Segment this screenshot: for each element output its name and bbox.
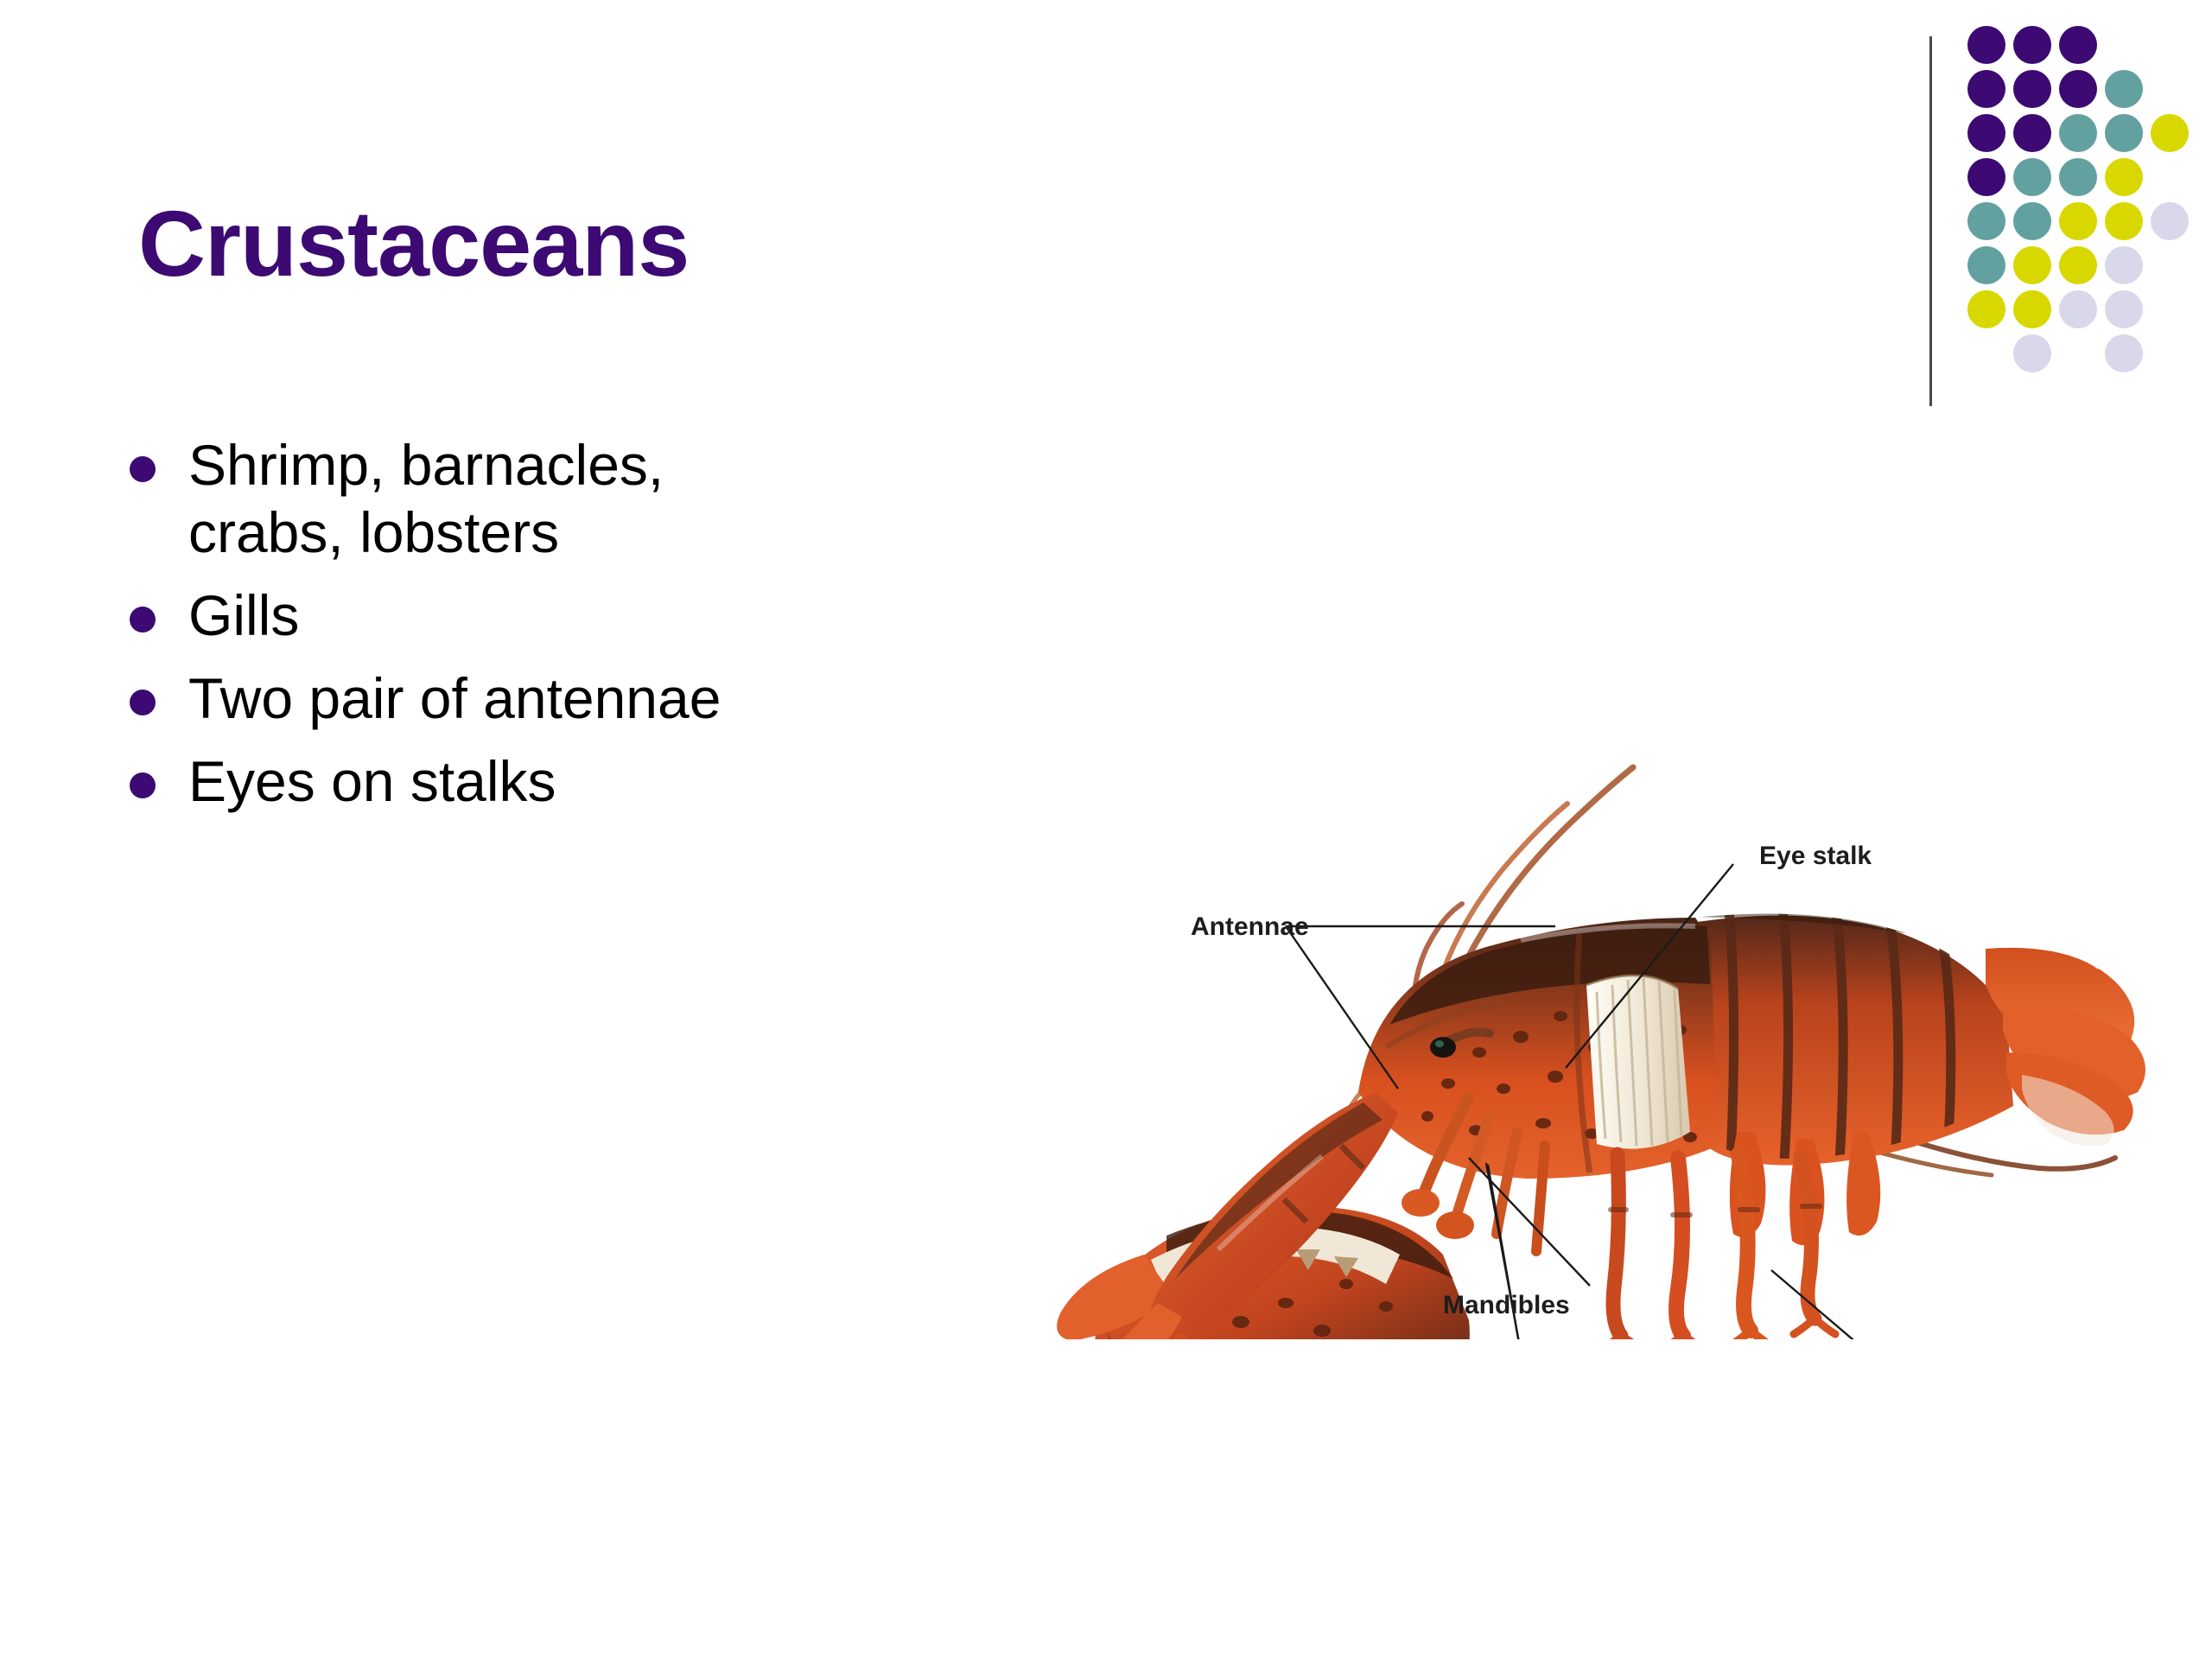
logo-dot-yellow [2105, 202, 2143, 240]
list-item-label: Two pair of antennae [188, 665, 994, 733]
list-item-label: Eyes on stalks [188, 748, 994, 816]
bullet-dot-icon [130, 607, 156, 632]
bullet-dot-icon [130, 690, 156, 715]
list-item-label: Gills [188, 582, 994, 650]
logo-dot-purple [1967, 158, 2005, 196]
bullet-list: Shrimp, barnacles, crabs, lobsters Gills… [130, 432, 994, 830]
logo-dot-yellow [2059, 202, 2097, 240]
gill-chamber [1586, 976, 1690, 1149]
list-item: Gills [130, 582, 994, 650]
label-antennae: Antennae [1191, 912, 1309, 941]
logo-dot-yellow [2013, 246, 2051, 284]
lobster-anatomy-figure: Antennae Eye stalk Gills [1037, 726, 2160, 1339]
logo-block [1914, 0, 2212, 432]
logo-dot-lavender [2105, 290, 2143, 328]
logo-dot-lavender [2059, 290, 2097, 328]
list-item: Shrimp, barnacles, crabs, lobsters [130, 432, 994, 567]
logo-dot-teal [1967, 246, 2005, 284]
logo-dot-yellow [2059, 246, 2097, 284]
logo-dot-purple [1967, 70, 2005, 108]
logo-dot-yellow [2105, 158, 2143, 196]
logo-dot-purple [1967, 114, 2005, 152]
logo-dot-teal [2105, 114, 2143, 152]
list-item: Eyes on stalks [130, 748, 994, 816]
slide-root: Crustaceans Shrimp, barnacles, crabs, lo… [0, 0, 2212, 1659]
list-item-label: Shrimp, barnacles, crabs, lobsters [188, 432, 741, 567]
logo-dot-teal [2013, 202, 2051, 240]
logo-dot-purple [2013, 26, 2051, 64]
logo-dot-lavender [2105, 246, 2143, 284]
logo-dot-lavender [2151, 202, 2189, 240]
bullet-dot-icon [130, 772, 156, 798]
logo-dot-yellow [2151, 114, 2189, 152]
page-title: Crustaceans [138, 194, 689, 292]
logo-dot-teal [1967, 202, 2005, 240]
logo-dot-lavender [2013, 334, 2051, 372]
logo-dot-teal [2059, 158, 2097, 196]
label-eye-stalk: Eye stalk [1759, 842, 1872, 870]
logo-dot-yellow [2013, 290, 2051, 328]
logo-divider-rule [1929, 36, 1932, 406]
logo-dot-purple [2013, 114, 2051, 152]
list-item: Two pair of antennae [130, 665, 994, 733]
logo-dot-yellow [1967, 290, 2005, 328]
logo-dot-purple [2059, 26, 2097, 64]
logo-dot-purple [1967, 26, 2005, 64]
logo-dot-purple [2013, 70, 2051, 108]
logo-dot-teal [2105, 70, 2143, 108]
logo-dot-grid [1967, 26, 2192, 372]
logo-dot-teal [2059, 114, 2097, 152]
logo-dot-purple [2059, 70, 2097, 108]
logo-dot-teal [2013, 158, 2051, 196]
bullet-dot-icon [130, 456, 156, 482]
lobster-illustration: Antennae Eye stalk Gills [1037, 726, 2160, 1339]
logo-dot-lavender [2105, 334, 2143, 372]
